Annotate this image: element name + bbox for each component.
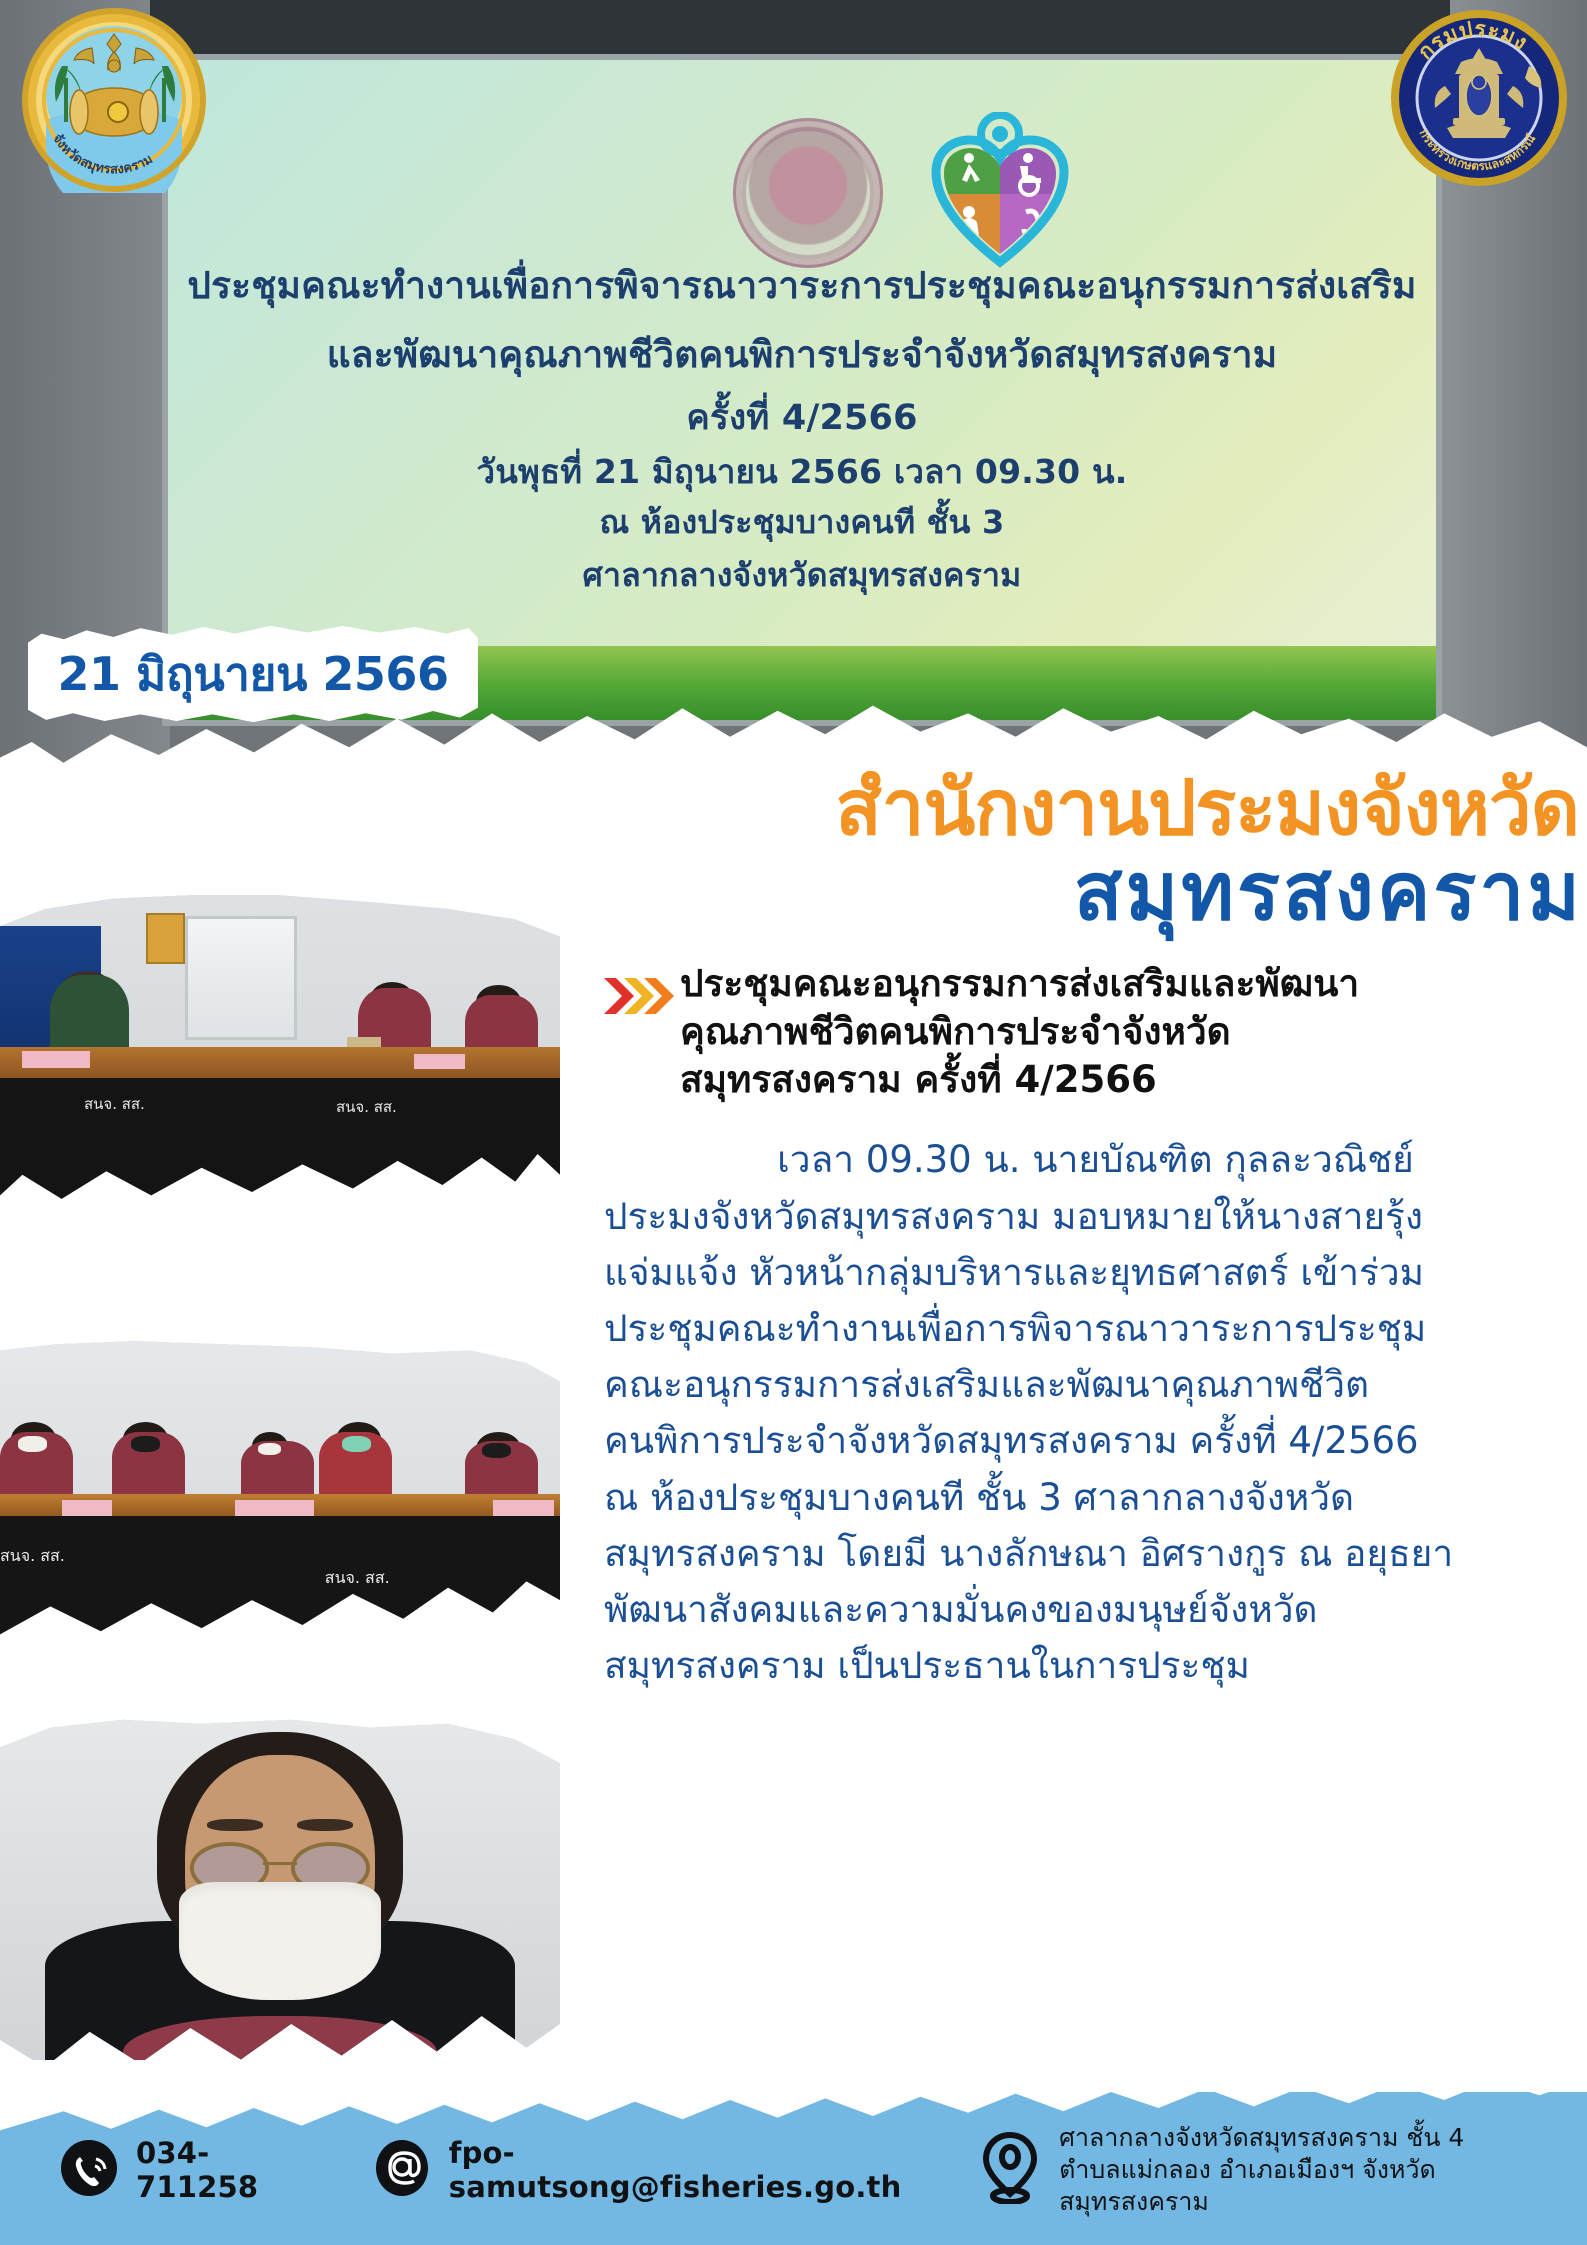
meeting-room-chairperson-photo: สนจ. สส. สนจ. สส. bbox=[0, 878, 560, 1223]
eyebrow bbox=[207, 1819, 263, 1832]
subtitle-block: ประชุมคณะอนุกรรมการส่งเสริมและพัฒนา คุณภ… bbox=[680, 960, 1587, 1104]
table-skirt-label: สนจ. สส. bbox=[336, 1095, 397, 1119]
name-card bbox=[235, 1500, 313, 1516]
face-mask bbox=[342, 1436, 371, 1452]
thai-government-garuda-emblem-icon bbox=[733, 118, 883, 268]
projector-frame-top bbox=[150, 0, 1450, 60]
name-card bbox=[62, 1500, 112, 1516]
phone-icon bbox=[60, 2139, 118, 2201]
disability-heart-icon bbox=[928, 112, 1073, 272]
body-line-5: คณะอนุกรรมการส่งเสริมและพัฒนาคุณภาพชีวิต bbox=[604, 1357, 1587, 1413]
name-card bbox=[493, 1500, 555, 1516]
department-of-fisheries-seal-icon: กรมประมง กระทรวงเกษตรและสหกรณ์ bbox=[1389, 8, 1569, 188]
address-contact[interactable]: ศาลากลางจังหวัดสมุทรสงคราม ชั้น 4 ตำบลแม… bbox=[979, 2122, 1530, 2218]
footer-contact-row: 034-711258 fpo-samutsong@fisheries.go.th bbox=[60, 2122, 1530, 2217]
table-skirt-label: สนจ. สส. bbox=[84, 1092, 145, 1116]
slide-text-line-6: ศาลากลางจังหวัดสมุทรสงคราม bbox=[168, 550, 1436, 601]
email-contact[interactable]: fpo-samutsong@fisheries.go.th bbox=[373, 2136, 913, 2204]
headline-line-2: สมุทรสงคราม bbox=[596, 850, 1587, 934]
room-window bbox=[185, 916, 297, 1040]
chevron-group bbox=[602, 960, 680, 1022]
address-line-1: ศาลากลางจังหวัดสมุทรสงคราม ชั้น 4 bbox=[1059, 2122, 1530, 2154]
slide-emblem-row bbox=[168, 96, 1436, 266]
body-line-2: ประมงจังหวัดสมุทรสงคราม มอบหมายให้นางสาย… bbox=[604, 1189, 1587, 1245]
samut-songkhram-province-seal-icon: จังหวัดสมุทรสงคราม bbox=[22, 8, 207, 193]
body-line-9: พัฒนาสังคมและความมั่นคงของมนุษย์จังหวัด bbox=[604, 1582, 1587, 1638]
date-badge-label: 21 มิถุนายน 2566 bbox=[28, 618, 478, 730]
headline-line-1: สำนักงานประมงจังหวัด bbox=[596, 770, 1587, 846]
staff-portrait-photo bbox=[0, 1700, 560, 2095]
phone-number: 034-711258 bbox=[136, 2136, 307, 2204]
face-mask bbox=[482, 1443, 511, 1459]
table-skirt bbox=[0, 1516, 560, 1650]
subtitle-line-2: คุณภาพชีวิตคนพิการประจำจังหวัด bbox=[680, 1008, 1587, 1056]
content-column: สำนักงานประมงจังหวัด สมุทรสงคราม ประชุมค… bbox=[596, 770, 1587, 1695]
face-mask bbox=[258, 1443, 282, 1455]
face-mask bbox=[131, 1436, 160, 1452]
address-line-2: ตำบลแม่กลอง อำเภอเมืองฯ จังหวัดสมุทรสงคร… bbox=[1059, 2154, 1530, 2218]
eyebrow bbox=[297, 1819, 353, 1832]
body-line-4: ประชุมคณะทำงานเพื่อการพิจารณาวาระการประช… bbox=[604, 1301, 1587, 1357]
phone-contact[interactable]: 034-711258 bbox=[60, 2136, 307, 2204]
at-sign-icon bbox=[373, 2139, 431, 2201]
subtitle-line-3: สมุทรสงคราม ครั้งที่ 4/2566 bbox=[680, 1056, 1587, 1104]
table-skirt-label: สนจ. สส. bbox=[0, 1544, 65, 1569]
slide-text-line-2: และพัฒนาคุณภาพชีวิตคนพิการประจำจังหวัดสม… bbox=[168, 325, 1436, 384]
body-line-3: แจ่มแจ้ง หัวหน้ากลุ่มบริหารและยุทธศาสตร์… bbox=[604, 1245, 1587, 1301]
subtitle-line-1: ประชุมคณะอนุกรรมการส่งเสริมและพัฒนา bbox=[680, 960, 1587, 1008]
location-pin-icon bbox=[979, 2132, 1041, 2208]
face-mask bbox=[18, 1436, 47, 1452]
name-card bbox=[414, 1054, 464, 1070]
slide-text-line-3: ครั้งที่ 4/2566 bbox=[168, 390, 1436, 445]
body-text-block: เวลา 09.30 น. นายบัณฑิต กุลละวณิชย์ ประม… bbox=[596, 1132, 1587, 1694]
subtitle-row: ประชุมคณะอนุกรรมการส่งเสริมและพัฒนา คุณภ… bbox=[596, 960, 1587, 1104]
email-address: fpo-samutsong@fisheries.go.th bbox=[449, 2136, 913, 2204]
body-line-1: เวลา 09.30 น. นายบัณฑิต กุลละวณิชย์ bbox=[604, 1132, 1587, 1188]
meeting-participants-photo: สนจ. สส. สนจ. สส. bbox=[0, 1338, 560, 1650]
body-line-8: สมุทรสงคราม โดยมี นางลักษณา อิศรางกูร ณ … bbox=[604, 1526, 1587, 1582]
date-badge: 21 มิถุนายน 2566 bbox=[28, 618, 478, 730]
body-line-10: สมุทรสงคราม เป็นประธานในการประชุม bbox=[604, 1638, 1587, 1694]
address-text: ศาลากลางจังหวัดสมุทรสงคราม ชั้น 4 ตำบลแม… bbox=[1059, 2122, 1530, 2218]
body-line-6: คนพิการประจำจังหวัดสมุทรสงคราม ครั้งที่ … bbox=[604, 1413, 1587, 1469]
slide-text-line-5: ณ ห้องประชุมบางคนที ชั้น 3 bbox=[168, 497, 1436, 548]
eyeglasses-bridge bbox=[263, 1862, 297, 1865]
body-line-7: ณ ห้องประชุมบางคนที ชั้น 3 ศาลากลางจังหว… bbox=[604, 1470, 1587, 1526]
name-card bbox=[22, 1051, 89, 1068]
wall-portrait-frame bbox=[146, 913, 185, 965]
chevron-right-icon bbox=[602, 974, 674, 1018]
table-skirt-label: สนจ. สส. bbox=[325, 1566, 390, 1591]
slide-text-line-4: วันพุธที่ 21 มิถุนายน 2566 เวลา 09.30 น. bbox=[168, 445, 1436, 498]
face-mask bbox=[179, 1882, 381, 2001]
slide-text-line-1: ประชุมคณะทำงานเพื่อการพิจารณาวาระการประช… bbox=[168, 256, 1436, 315]
contact-footer: 034-711258 fpo-samutsong@fisheries.go.th bbox=[0, 2092, 1587, 2245]
